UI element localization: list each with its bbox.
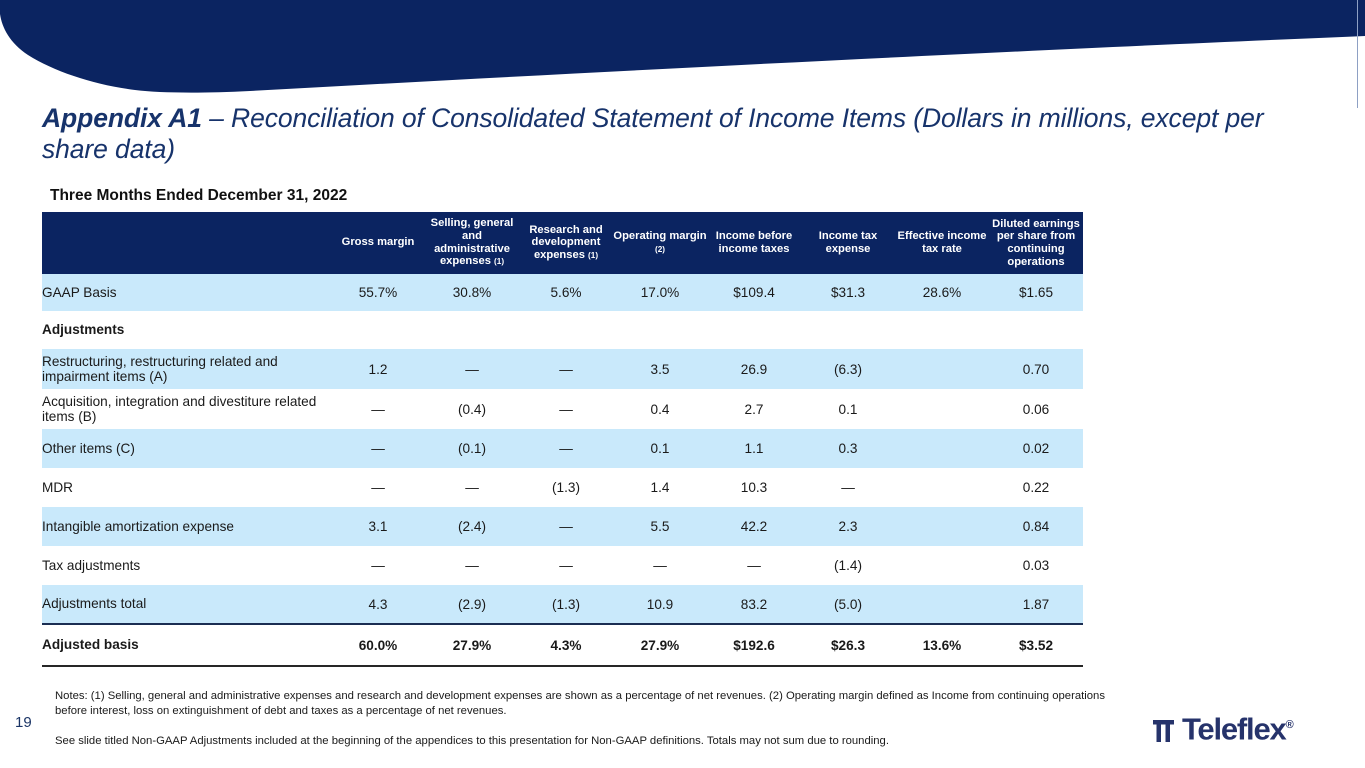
cell-deps: 0.02 — [989, 429, 1083, 468]
teleflex-logo: Teleflex® — [1152, 708, 1337, 742]
cell-opmargin: — — [613, 546, 707, 585]
cell-rnd: — — [519, 546, 613, 585]
row-label: Acquisition, integration and divestiture… — [42, 389, 331, 429]
cell-gross: — — [331, 468, 425, 507]
cell-opmargin: 10.9 — [613, 585, 707, 624]
row-label: Restructuring, restructuring related and… — [42, 349, 331, 389]
table-row: Acquisition, integration and divestiture… — [42, 389, 1083, 429]
cell-etr — [895, 546, 989, 585]
cell-etr: 13.6% — [895, 624, 989, 666]
banner-shape — [0, 0, 1365, 110]
column-header-text: Income tax expense — [819, 230, 877, 255]
table-body: GAAP Basis55.7%30.8%5.6%17.0%$109.4$31.3… — [42, 274, 1083, 666]
table-row: Intangible amortization expense3.1(2.4)—… — [42, 507, 1083, 546]
table-row: Other items (C)—(0.1)—0.11.10.30.02 — [42, 429, 1083, 468]
cell-rnd: (1.3) — [519, 585, 613, 624]
column-header-text: Income before income taxes — [716, 230, 792, 255]
cell-opmargin: 0.1 — [613, 429, 707, 468]
cell-deps: 0.22 — [989, 468, 1083, 507]
cell-gross: 4.3 — [331, 585, 425, 624]
cell-deps — [989, 311, 1083, 349]
cell-deps: 0.84 — [989, 507, 1083, 546]
page-number: 19 — [15, 714, 32, 731]
column-header-income-tax-expense: Income tax expense — [801, 212, 895, 274]
cell-rnd: — — [519, 349, 613, 389]
cell-taxexp: 2.3 — [801, 507, 895, 546]
cell-rnd: — — [519, 507, 613, 546]
column-header-text: Gross margin — [342, 236, 415, 248]
cell-taxexp: 0.1 — [801, 389, 895, 429]
page-title-bold: Appendix A1 — [42, 103, 202, 133]
row-label: Adjustments total — [42, 585, 331, 624]
row-label: Other items (C) — [42, 429, 331, 468]
cell-opmargin: 27.9% — [613, 624, 707, 666]
cell-opmargin: 1.4 — [613, 468, 707, 507]
column-header-effective-tax-rate: Effective income tax rate — [895, 212, 989, 274]
cell-sga: (2.4) — [425, 507, 519, 546]
column-header-text: Operating margin — [613, 230, 706, 242]
cell-gross: — — [331, 389, 425, 429]
cell-opmargin: 17.0% — [613, 274, 707, 311]
cell-sga: — — [425, 468, 519, 507]
cell-rnd: 5.6% — [519, 274, 613, 311]
column-header-text: Diluted earnings per share from continui… — [992, 218, 1080, 268]
cell-taxexp: $26.3 — [801, 624, 895, 666]
column-footnote-marker: (2) — [655, 245, 665, 254]
cell-ibit: — — [707, 546, 801, 585]
cell-ibit: $192.6 — [707, 624, 801, 666]
cell-etr — [895, 389, 989, 429]
table-row: Adjustments — [42, 311, 1083, 349]
cell-ibit: 83.2 — [707, 585, 801, 624]
cell-taxexp: 0.3 — [801, 429, 895, 468]
table-row: Adjustments total4.3(2.9)(1.3)10.983.2(5… — [42, 585, 1083, 624]
cell-ibit: 1.1 — [707, 429, 801, 468]
cell-rnd: (1.3) — [519, 468, 613, 507]
cell-taxexp: (5.0) — [801, 585, 895, 624]
cell-opmargin: 3.5 — [613, 349, 707, 389]
cell-sga: — — [425, 546, 519, 585]
cell-sga: (2.9) — [425, 585, 519, 624]
cell-gross: 1.2 — [331, 349, 425, 389]
cell-deps: 0.03 — [989, 546, 1083, 585]
cell-deps: $3.52 — [989, 624, 1083, 666]
cell-etr — [895, 349, 989, 389]
table-header: Gross margin Selling, general and admini… — [42, 212, 1083, 274]
cell-taxexp: (1.4) — [801, 546, 895, 585]
cell-taxexp — [801, 311, 895, 349]
logo-name-text: Teleflex — [1182, 711, 1286, 746]
table-row: Restructuring, restructuring related and… — [42, 349, 1083, 389]
logo-mark-icon — [1152, 713, 1182, 747]
cell-etr — [895, 585, 989, 624]
registered-trademark-icon: ® — [1286, 719, 1294, 731]
column-header-rnd-expenses: Research and development expenses (1) — [519, 212, 613, 274]
cell-deps: $1.65 — [989, 274, 1083, 311]
cell-etr — [895, 429, 989, 468]
row-label: Adjusted basis — [42, 624, 331, 666]
page-title-rest: – Reconciliation of Consolidated Stateme… — [42, 103, 1264, 164]
column-header-diluted-eps: Diluted earnings per share from continui… — [989, 212, 1083, 274]
row-label: MDR — [42, 468, 331, 507]
cell-gross: 3.1 — [331, 507, 425, 546]
cell-ibit: 26.9 — [707, 349, 801, 389]
cell-opmargin: 5.5 — [613, 507, 707, 546]
cell-ibit: 2.7 — [707, 389, 801, 429]
table-row: Adjusted basis60.0%27.9%4.3%27.9%$192.6$… — [42, 624, 1083, 666]
column-header-gross-margin: Gross margin — [331, 212, 425, 274]
cell-rnd: — — [519, 389, 613, 429]
footnote-methodology: Notes: (1) Selling, general and administ… — [55, 689, 1133, 719]
column-header-income-before-taxes: Income before income taxes — [707, 212, 801, 274]
cell-sga: 27.9% — [425, 624, 519, 666]
cell-sga: 30.8% — [425, 274, 519, 311]
column-header-label — [42, 212, 331, 274]
cell-etr — [895, 468, 989, 507]
table-row: MDR——(1.3)1.410.3—0.22 — [42, 468, 1083, 507]
cell-ibit: $109.4 — [707, 274, 801, 311]
cell-opmargin — [613, 311, 707, 349]
cell-etr — [895, 311, 989, 349]
column-footnote-marker: (1) — [494, 257, 504, 266]
cell-sga: — — [425, 349, 519, 389]
cell-gross: — — [331, 429, 425, 468]
row-label: Adjustments — [42, 311, 331, 349]
cell-ibit: 10.3 — [707, 468, 801, 507]
cell-gross — [331, 311, 425, 349]
cell-sga: (0.1) — [425, 429, 519, 468]
cell-rnd: — — [519, 429, 613, 468]
right-edge-rule — [1357, 0, 1358, 108]
cell-deps: 0.70 — [989, 349, 1083, 389]
cell-gross: 60.0% — [331, 624, 425, 666]
reconciliation-table: Gross margin Selling, general and admini… — [42, 212, 1083, 667]
cell-ibit: 42.2 — [707, 507, 801, 546]
cell-taxexp: $31.3 — [801, 274, 895, 311]
table-header-row: Gross margin Selling, general and admini… — [42, 212, 1083, 274]
cell-opmargin: 0.4 — [613, 389, 707, 429]
cell-gross: 55.7% — [331, 274, 425, 311]
column-header-text: Effective income tax rate — [898, 230, 987, 255]
footnote-nongaap-reference: See slide titled Non-GAAP Adjustments in… — [55, 734, 1133, 749]
row-label: Intangible amortization expense — [42, 507, 331, 546]
column-footnote-marker: (1) — [588, 251, 598, 260]
cell-ibit — [707, 311, 801, 349]
row-label: GAAP Basis — [42, 274, 331, 311]
cell-gross: — — [331, 546, 425, 585]
page-title: Appendix A1 – Reconciliation of Consolid… — [42, 103, 1302, 165]
cell-deps: 1.87 — [989, 585, 1083, 624]
table-row: Tax adjustments—————(1.4)0.03 — [42, 546, 1083, 585]
table-row: GAAP Basis55.7%30.8%5.6%17.0%$109.4$31.3… — [42, 274, 1083, 311]
cell-taxexp: — — [801, 468, 895, 507]
row-label: Tax adjustments — [42, 546, 331, 585]
cell-taxexp: (6.3) — [801, 349, 895, 389]
cell-sga — [425, 311, 519, 349]
cell-etr: 28.6% — [895, 274, 989, 311]
header-banner — [0, 0, 1365, 110]
column-header-operating-margin: Operating margin (2) — [613, 212, 707, 274]
cell-rnd — [519, 311, 613, 349]
cell-rnd: 4.3% — [519, 624, 613, 666]
column-header-sga-expenses: Selling, general and administrative expe… — [425, 212, 519, 274]
logo-wordmark: Teleflex® — [1152, 708, 1337, 746]
cell-etr — [895, 507, 989, 546]
cell-sga: (0.4) — [425, 389, 519, 429]
period-heading: Three Months Ended December 31, 2022 — [50, 187, 347, 205]
cell-deps: 0.06 — [989, 389, 1083, 429]
